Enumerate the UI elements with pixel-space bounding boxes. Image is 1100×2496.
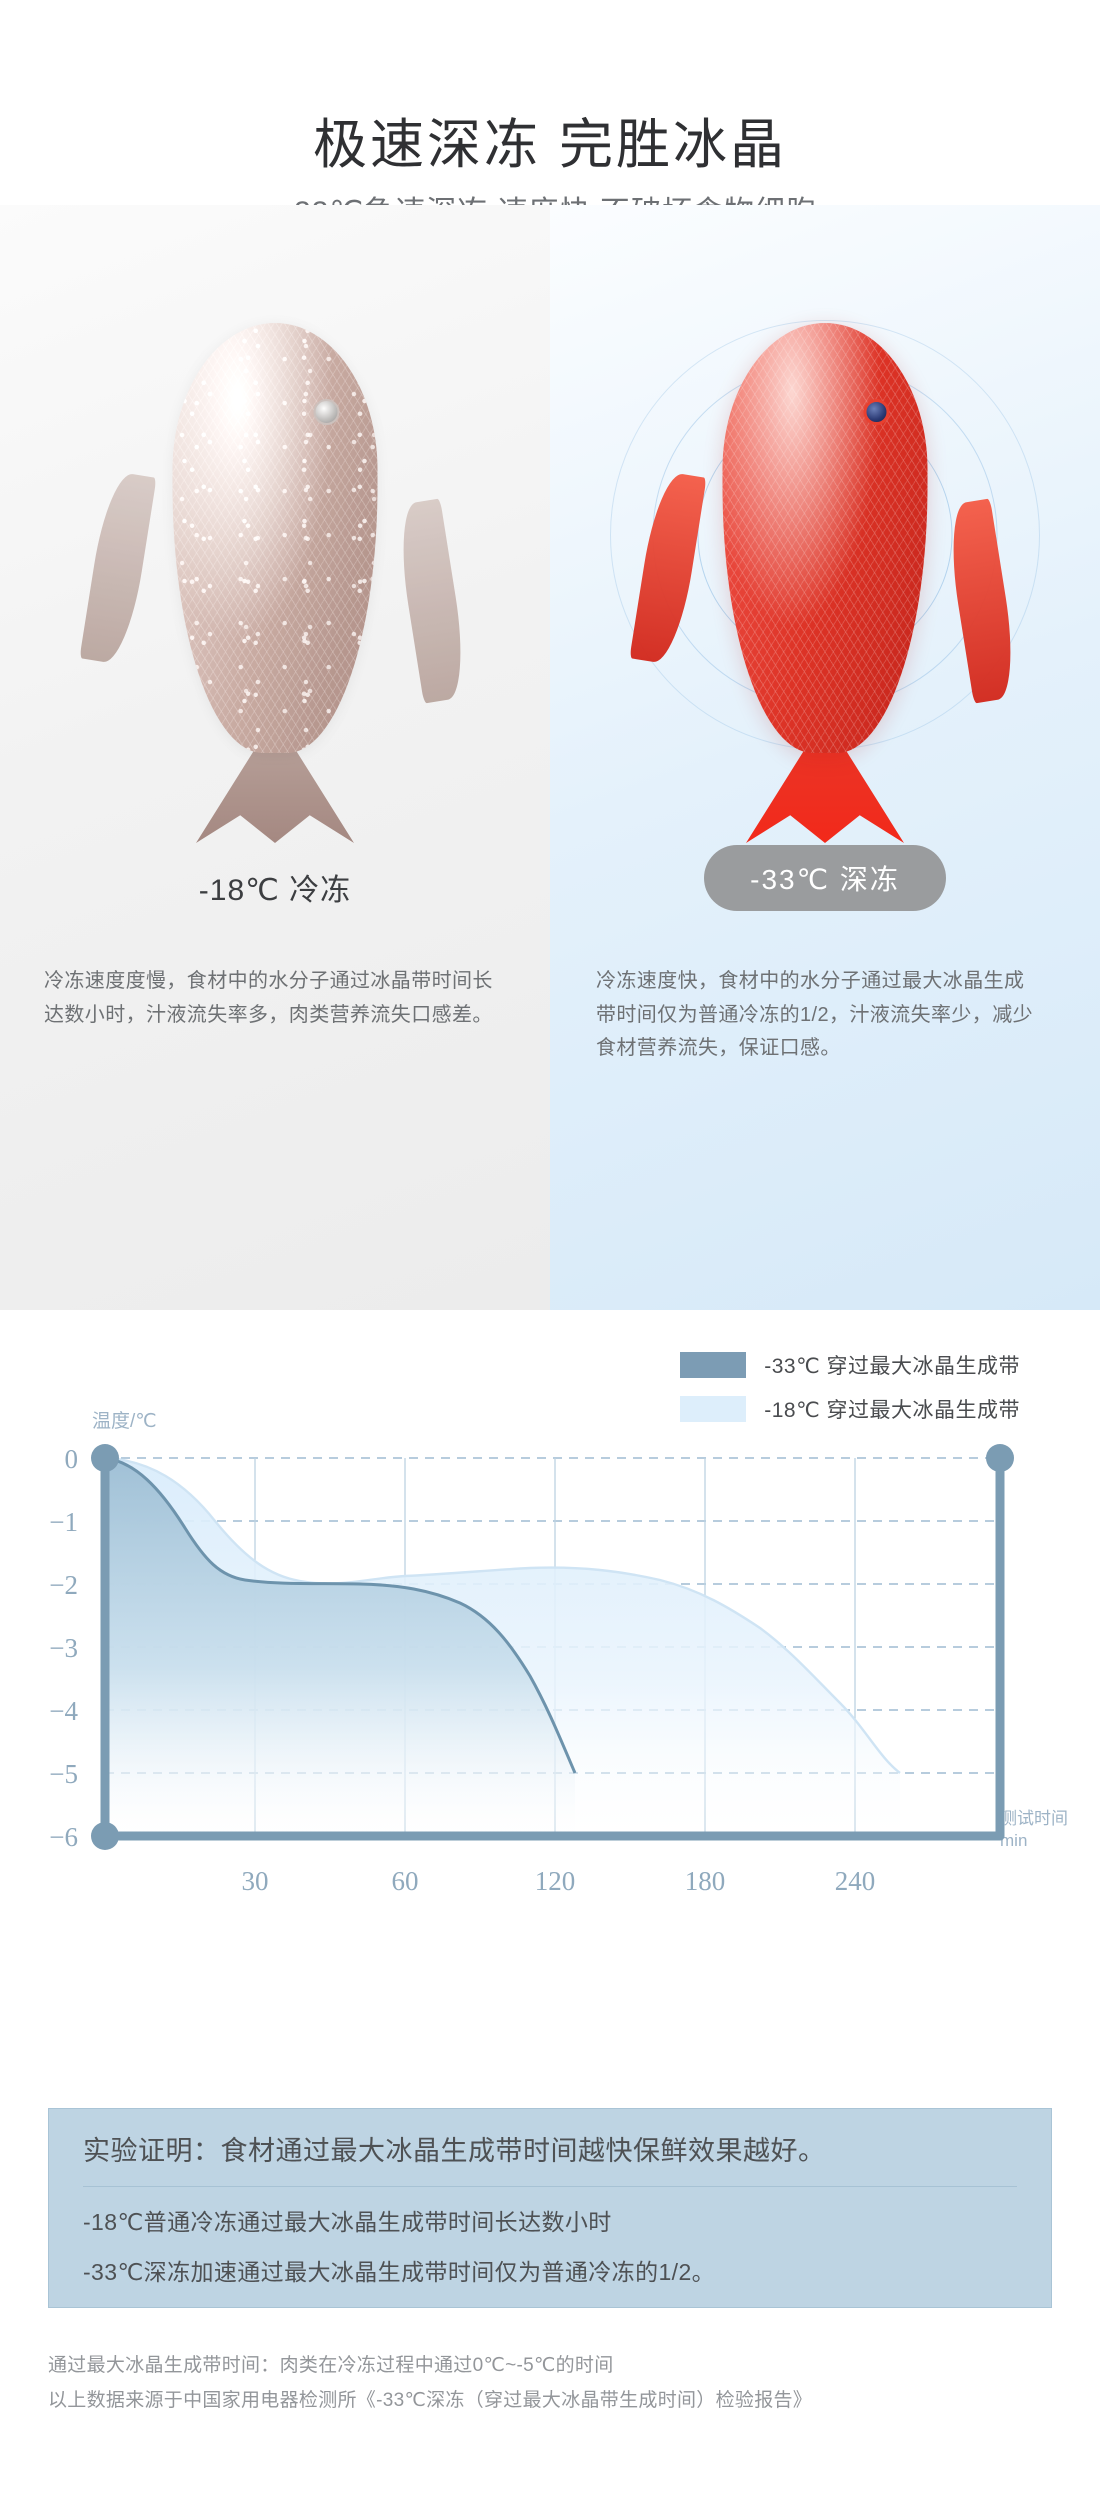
description-minus18: 冷冻速度度慢，食材中的水分子通过冰晶带时间长达数小时，汁液流失率多，肉类营养流失… bbox=[0, 965, 550, 1032]
footer-line-1: 通过最大冰晶生成带时间：肉类在冷冻过程中通过0℃~-5℃的时间 bbox=[48, 2348, 1058, 2383]
fish-fin-left-icon bbox=[79, 470, 156, 665]
axis-cap-top-left bbox=[91, 1444, 119, 1472]
page-title: 极速深冻 完胜冰晶 bbox=[313, 118, 787, 172]
x-tick-60: 60 bbox=[392, 1866, 419, 1896]
chart-plot-area: 温度/℃ 测试时间 min bbox=[0, 1428, 1100, 2048]
comparison-panel-right: -33℃ 深冻 冷冻速度快，食材中的水分子通过最大冰晶生成带时间仅为普通冷冻的1… bbox=[550, 205, 1100, 1310]
legend-item-minus33: -33℃ 穿过最大冰晶生成带 bbox=[680, 1350, 1020, 1380]
conclusion-line-2: -33℃深冻加速通过最大冰晶生成带时间仅为普通冷冻的1/2。 bbox=[83, 2253, 1017, 2287]
fish-image-vivid bbox=[660, 323, 990, 843]
y-tick-2: −2 bbox=[49, 1570, 78, 1600]
badge-deepfreeze-minus33: -33℃ 深冻 bbox=[704, 845, 946, 911]
x-tick-30: 30 bbox=[242, 1866, 269, 1896]
freeze-curve-chart: 0 −1 −2 −3 −4 −5 −6 30 60 120 180 240 bbox=[0, 1428, 1100, 2048]
axis-cap-bottom-left bbox=[91, 1822, 119, 1850]
description-minus33: 冷冻速度快，食材中的水分子通过最大冰晶生成带时间仅为普通冷冻的1/2，汁液流失率… bbox=[550, 965, 1100, 1066]
hero-header: 极速深冻 完胜冰晶 -33℃急速深冻 速度快 不破坏食物细胞 bbox=[0, 0, 1100, 205]
footer-line-2: 以上数据来源于中国家用电器检测所《-33℃深冻（穿过最大冰晶带生成时间）检验报告… bbox=[48, 2383, 1058, 2418]
fish-eye-icon bbox=[864, 399, 890, 425]
conclusion-box: 实验证明：食材通过最大冰晶生成带时间越快保鲜效果越好。 -18℃普通冷冻通过最大… bbox=[48, 2108, 1052, 2308]
footer-disclaimer: 通过最大冰晶生成带时间：肉类在冷冻过程中通过0℃~-5℃的时间 以上数据来源于中… bbox=[48, 2348, 1058, 2418]
y-tick-5: −5 bbox=[49, 1759, 78, 1789]
x-tick-120: 120 bbox=[535, 1866, 576, 1896]
legend-label-minus18: -18℃ 穿过最大冰晶生成带 bbox=[764, 1394, 1020, 1424]
y-tick-1: −1 bbox=[49, 1507, 78, 1537]
fish-body bbox=[173, 323, 378, 753]
y-tick-4: −4 bbox=[49, 1696, 78, 1726]
x-tick-240: 240 bbox=[835, 1866, 876, 1896]
legend-label-minus33: -33℃ 穿过最大冰晶生成带 bbox=[764, 1350, 1020, 1380]
fish-image-dull bbox=[110, 323, 440, 843]
y-tick-6: −6 bbox=[49, 1822, 78, 1852]
y-tick-3: −3 bbox=[49, 1633, 78, 1663]
fish-scales-texture bbox=[173, 323, 378, 753]
conclusion-headline: 实验证明：食材通过最大冰晶生成带时间越快保鲜效果越好。 bbox=[83, 2129, 1017, 2187]
chart-legend: -33℃ 穿过最大冰晶生成带 -18℃ 穿过最大冰晶生成带 bbox=[680, 1350, 1020, 1438]
label-freeze-minus18: -18℃ 冷冻 bbox=[0, 865, 550, 909]
legend-swatch-minus33 bbox=[680, 1352, 746, 1378]
fish-scales-texture bbox=[723, 323, 928, 753]
comparison-panel-left: -18℃ 冷冻 冷冻速度度慢，食材中的水分子通过冰晶带时间长达数小时，汁液流失率… bbox=[0, 205, 550, 1310]
comparison-section: -18℃ 冷冻 冷冻速度度慢，食材中的水分子通过冰晶带时间长达数小时，汁液流失率… bbox=[0, 205, 1100, 1310]
legend-item-minus18: -18℃ 穿过最大冰晶生成带 bbox=[680, 1394, 1020, 1424]
fish-eye-icon bbox=[314, 399, 340, 425]
y-tick-0: 0 bbox=[65, 1444, 79, 1474]
conclusion-line-1: -18℃普通冷冻通过最大冰晶生成带时间长达数小时 bbox=[83, 2203, 1017, 2237]
axis-cap-top-right bbox=[986, 1444, 1014, 1472]
x-tick-labels: 30 60 120 180 240 bbox=[242, 1866, 876, 1896]
label-pill-row: -33℃ 深冻 bbox=[550, 845, 1100, 911]
chart-section: -33℃ 穿过最大冰晶生成带 -18℃ 穿过最大冰晶生成带 温度/℃ 测试时间 … bbox=[0, 1310, 1100, 2190]
fish-fin-right-icon bbox=[393, 498, 472, 703]
x-tick-180: 180 bbox=[685, 1866, 726, 1896]
legend-swatch-minus18 bbox=[680, 1396, 746, 1422]
y-tick-labels: 0 −1 −2 −3 −4 −5 −6 bbox=[49, 1444, 78, 1852]
fish-body bbox=[723, 323, 928, 753]
